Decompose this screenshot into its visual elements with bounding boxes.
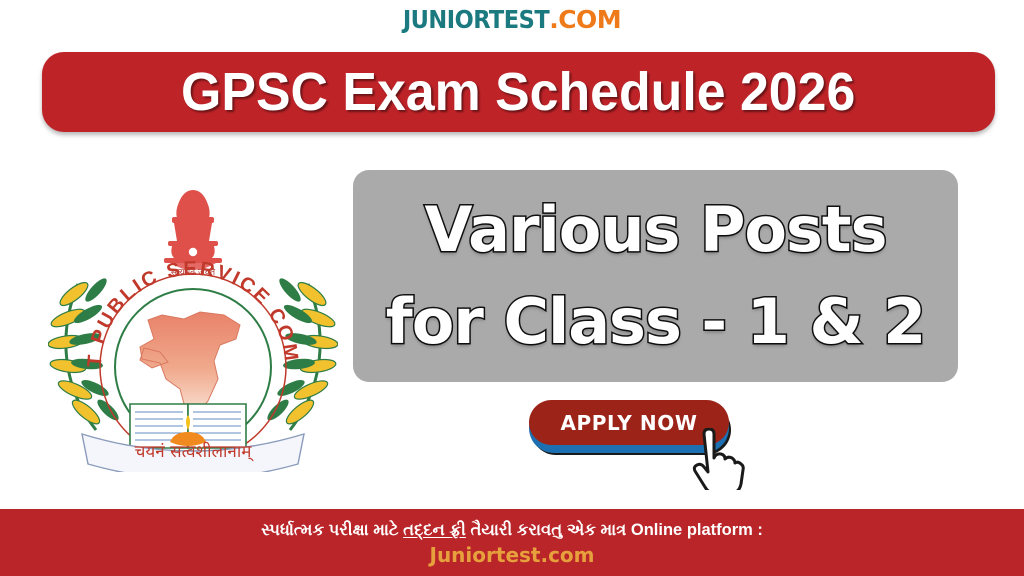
footer-tagline-highlight: તદ્દન ફ્રી [403,521,466,539]
gpsc-emblem: सत्यमेव जयते GUJARAT PUBLIC SERVICE COMM… [48,172,338,472]
headline-line-1: Various Posts [425,184,887,276]
page-title: GPSC Exam Schedule 2026 [181,64,855,120]
hand-pointer-icon [686,428,746,490]
footer-banner: સ્પર્ધાત્મક પરીક્ષા માટે તદ્દન ફ્રી તૈયા… [0,509,1024,576]
headline-box: Various Posts for Class - 1 & 2 [353,170,958,382]
footer-tagline-post: તૈયારી કરાવતુ એક માત્ર Online platform : [466,521,763,539]
footer-tagline-pre: સ્પર્ધાત્મક પરીક્ષા માટે [261,521,403,539]
site-logo[interactable]: JUNIORTEST.COM [0,6,1024,34]
ribbon-motto: चयनं सत्वशीलानाम् [135,441,255,462]
apply-now-area[interactable]: APPLY NOW [528,400,738,458]
headline-line-2: for Class - 1 & 2 [386,276,926,368]
logo-text-primary: JUNIORTEST [403,5,549,34]
header-banner: GPSC Exam Schedule 2026 [42,52,995,132]
footer-website[interactable]: Juniortest.com [430,542,595,568]
logo-text-suffix: .COM [549,5,621,34]
poster-canvas: JUNIORTEST.COM GPSC Exam Schedule 2026 [0,0,1024,576]
footer-tagline: સ્પર્ધાત્મક પરીક્ષા માટે તદ્દન ફ્રી તૈયા… [261,518,763,542]
